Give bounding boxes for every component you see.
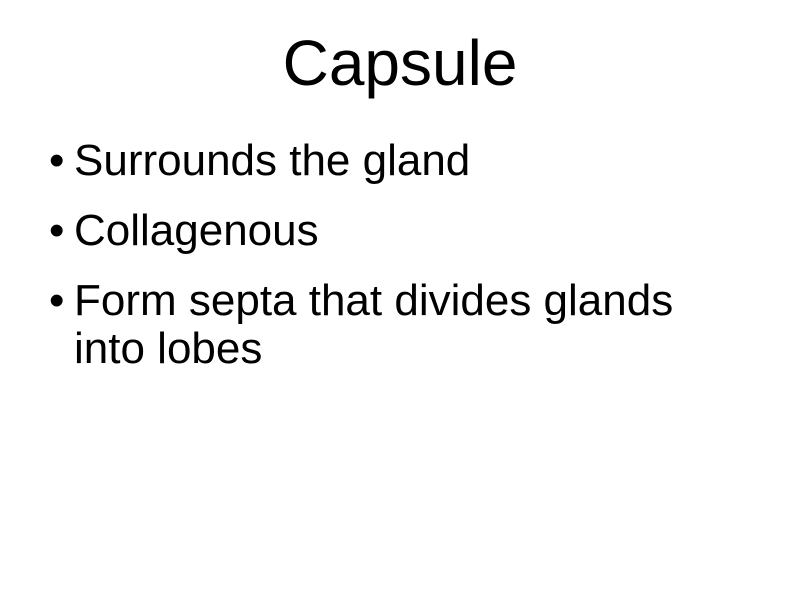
list-item-text: Collagenous [74, 207, 752, 255]
bullet-point-icon: • [49, 137, 69, 185]
slide-title: Capsule [0, 30, 800, 97]
list-item: • Collagenous [46, 207, 752, 255]
bullet-list: • Surrounds the gland • Collagenous • Fo… [46, 137, 752, 373]
list-item-text: Surrounds the gland [74, 137, 752, 185]
bullet-point-icon: • [49, 277, 69, 325]
list-item: • Form septa that divides glands into lo… [46, 277, 752, 373]
list-item: • Surrounds the gland [46, 137, 752, 185]
bullet-point-icon: • [49, 207, 69, 255]
list-item-text: Form septa that divides glands into lobe… [74, 277, 752, 373]
presentation-slide: Capsule • Surrounds the gland • Collagen… [0, 0, 800, 600]
